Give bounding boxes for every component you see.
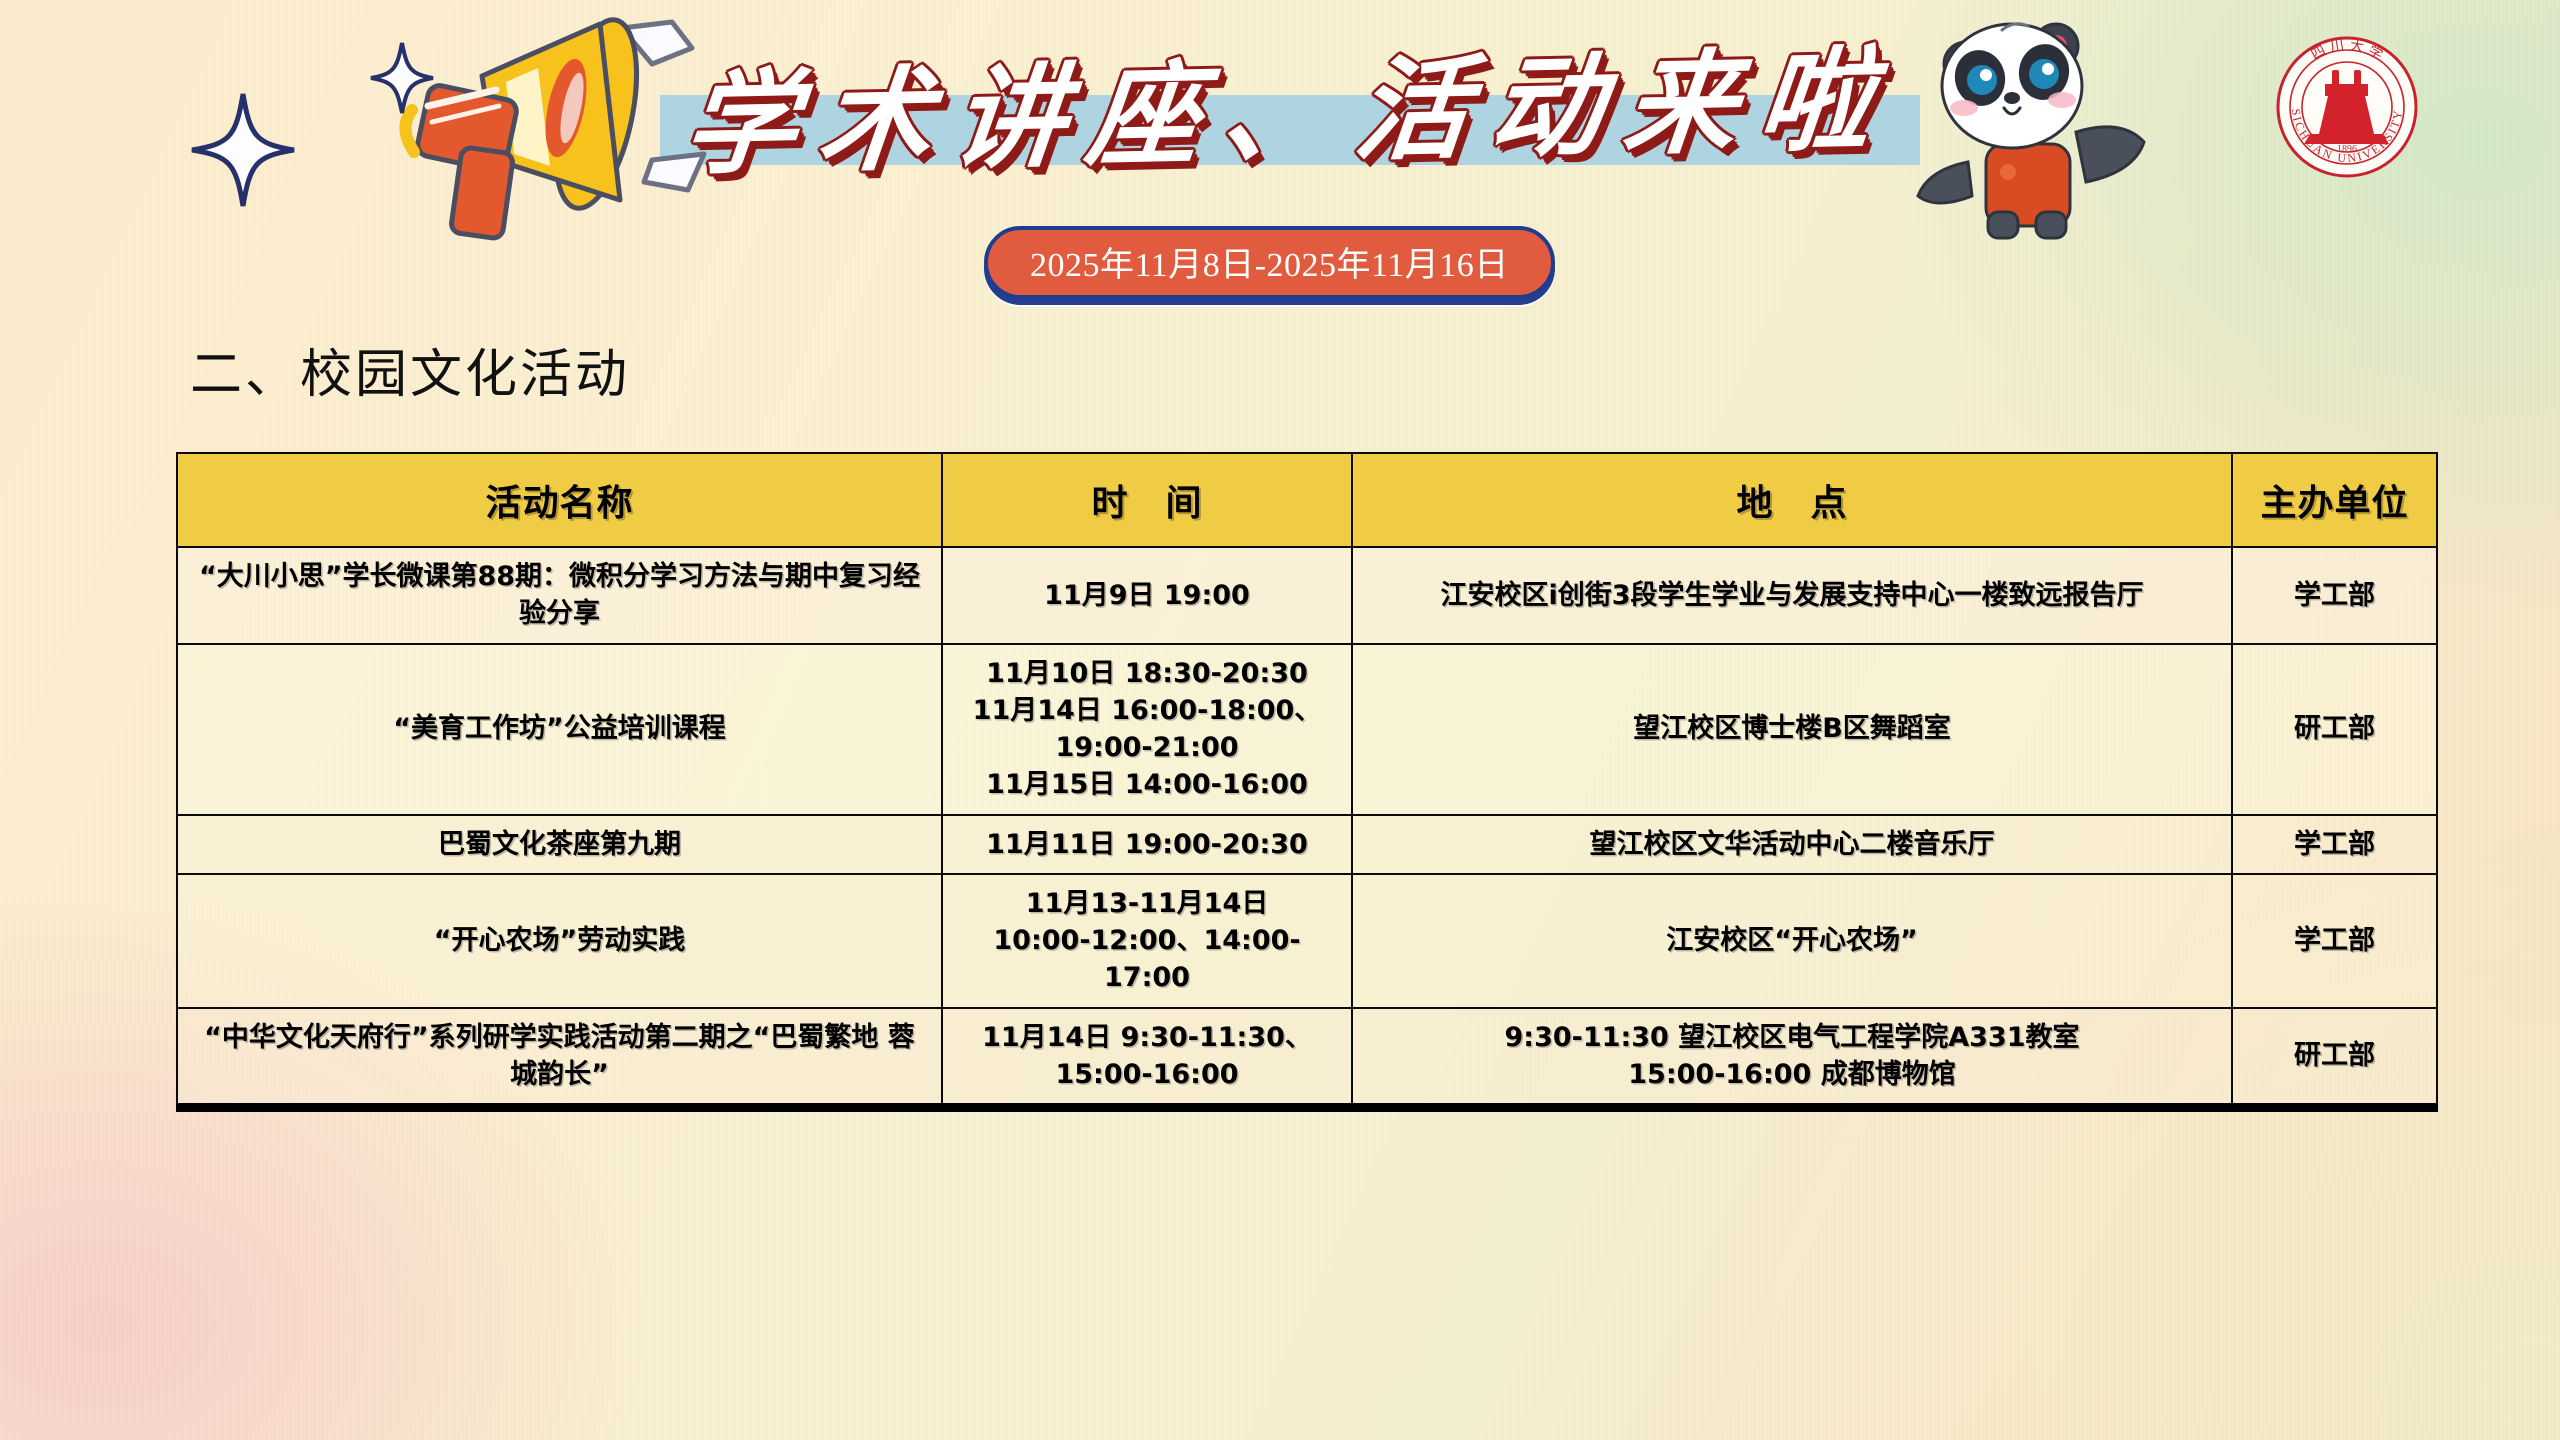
cell-time: 11月11日 19:00-20:30 <box>942 815 1352 874</box>
cell-time-line: 10:00-12:00、14:00- <box>957 922 1337 959</box>
cell-activity-name: “中华文化天府行”系列研学实践活动第二期之“巴蜀繁地 蓉城韵长” <box>177 1008 942 1108</box>
cell-place-line: 9:30-11:30 望江校区电气工程学院A331教室 <box>1367 1019 2217 1056</box>
cell-time-line: 15:00-16:00 <box>957 1056 1337 1093</box>
sparkle-star-small-icon <box>368 40 436 116</box>
cell-place-line: 15:00-16:00 成都博物馆 <box>1367 1056 2217 1093</box>
cell-time-line: 19:00-21:00 <box>957 729 1337 766</box>
cell-time: 11月13-11月14日10:00-12:00、14:00-17:00 <box>942 874 1352 1008</box>
cell-time-line: 11月14日 16:00-18:00、 <box>957 692 1337 729</box>
page-section-heading: 二、校园文化活动 <box>190 332 630 407</box>
column-header-time: 时 间 <box>942 453 1352 547</box>
table-row: 巴蜀文化茶座第九期11月11日 19:00-20:30望江校区文华活动中心二楼音… <box>177 815 2437 874</box>
cell-place-line: 江安校区“开心农场” <box>1367 922 2217 959</box>
cell-place: 望江校区文华活动中心二楼音乐厅 <box>1352 815 2232 874</box>
cell-place: 江安校区“开心农场” <box>1352 874 2232 1008</box>
cell-time-line: 11月14日 9:30-11:30、 <box>957 1019 1337 1056</box>
cell-activity-name: 巴蜀文化茶座第九期 <box>177 815 942 874</box>
cell-place: 9:30-11:30 望江校区电气工程学院A331教室15:00-16:00 成… <box>1352 1008 2232 1108</box>
page-title: 学术讲座、活动来啦 <box>640 28 1940 178</box>
cell-organizer: 研工部 <box>2232 644 2437 815</box>
date-range-badge: 2025年11月8日-2025年11月16日 <box>984 226 1555 299</box>
table-row: “美育工作坊”公益培训课程11月10日 18:30-20:3011月14日 16… <box>177 644 2437 815</box>
table-row: “中华文化天府行”系列研学实践活动第二期之“巴蜀繁地 蓉城韵长”11月14日 9… <box>177 1008 2437 1108</box>
cell-activity-name: “大川小思”学长微课第88期：微积分学习方法与期中复习经验分享 <box>177 547 942 644</box>
cell-time: 11月14日 9:30-11:30、15:00-16:00 <box>942 1008 1352 1108</box>
cell-time-line: 11月9日 19:00 <box>957 577 1337 614</box>
cell-organizer: 学工部 <box>2232 547 2437 644</box>
cell-place-line: 望江校区文华活动中心二楼音乐厅 <box>1367 826 2217 863</box>
date-range-text: 2025年11月8日-2025年11月16日 <box>1030 247 1509 284</box>
cell-place-line: 江安校区i创街3段学生学业与发展支持中心一楼致远报告厅 <box>1367 577 2217 614</box>
table-body: “大川小思”学长微课第88期：微积分学习方法与期中复习经验分享11月9日 19:… <box>177 547 2437 1108</box>
cell-activity-name: “美育工作坊”公益培训课程 <box>177 644 942 815</box>
table-row: “开心农场”劳动实践11月13-11月14日10:00-12:00、14:00-… <box>177 874 2437 1008</box>
cell-activity-name: “开心农场”劳动实践 <box>177 874 942 1008</box>
table-header-row: 活动名称 时 间 地 点 主办单位 <box>177 453 2437 547</box>
cell-place-line: 望江校区博士楼B区舞蹈室 <box>1367 710 2217 747</box>
cell-organizer: 学工部 <box>2232 815 2437 874</box>
panda-mascot-icon <box>1908 12 2168 242</box>
cell-time-line: 11月13-11月14日 <box>957 885 1337 922</box>
cell-organizer: 研工部 <box>2232 1008 2437 1108</box>
cell-organizer: 学工部 <box>2232 874 2437 1008</box>
cell-place: 望江校区博士楼B区舞蹈室 <box>1352 644 2232 815</box>
table-row: “大川小思”学长微课第88期：微积分学习方法与期中复习经验分享11月9日 19:… <box>177 547 2437 644</box>
cell-time-line: 11月11日 19:00-20:30 <box>957 826 1337 863</box>
sichuan-university-logo: 四 川 大 学 SICHUAN UNIVERSITY 1896 <box>2262 22 2432 192</box>
cell-time-line: 17:00 <box>957 959 1337 996</box>
column-header-organizer: 主办单位 <box>2232 453 2437 547</box>
sparkle-star-icon <box>188 90 298 210</box>
cell-time: 11月10日 18:30-20:3011月14日 16:00-18:00、19:… <box>942 644 1352 815</box>
cell-place: 江安校区i创街3段学生学业与发展支持中心一楼致远报告厅 <box>1352 547 2232 644</box>
cell-time-line: 11月15日 14:00-16:00 <box>957 766 1337 803</box>
cell-time: 11月9日 19:00 <box>942 547 1352 644</box>
activity-schedule-table: 活动名称 时 间 地 点 主办单位 “大川小思”学长微课第88期：微积分学习方法… <box>176 452 2438 1112</box>
svg-text:1896: 1896 <box>2337 144 2357 155</box>
cell-time-line: 11月10日 18:30-20:30 <box>957 655 1337 692</box>
page-title-text: 学术讲座、活动来啦 <box>677 9 1902 196</box>
column-header-activity-name: 活动名称 <box>177 453 942 547</box>
column-header-place: 地 点 <box>1352 453 2232 547</box>
